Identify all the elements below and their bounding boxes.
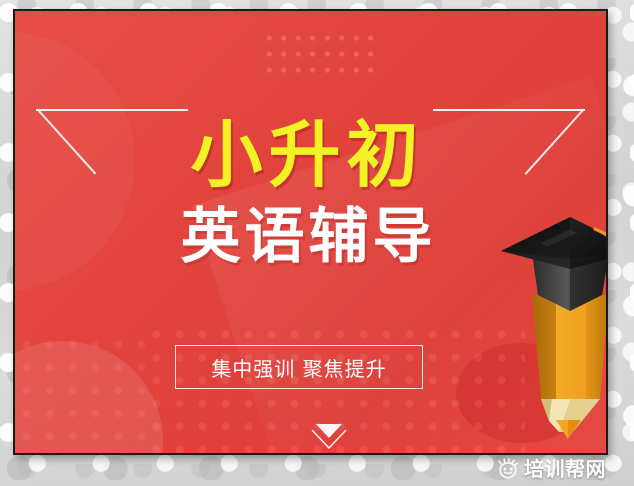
- poster-frame: 小升初 英语辅导 集中强训 聚焦提升: [13, 9, 608, 455]
- slogan-text: 集中强训 聚焦提升: [211, 353, 386, 382]
- chevron-down-icon: [303, 415, 355, 451]
- watermark-text: 培训帮网: [524, 459, 606, 479]
- dot-grid-top: [262, 30, 378, 76]
- slogan-box: 集中强训 聚焦提升: [175, 345, 423, 389]
- headline-block: 小升初 英语辅导: [15, 119, 606, 267]
- sun-face-icon: [497, 458, 519, 480]
- dot-grid-bottom-left: [15, 333, 155, 453]
- watermark: 培训帮网: [497, 458, 606, 480]
- bracket-line-right: [433, 109, 585, 111]
- poster-title-sub: 英语辅导: [15, 207, 606, 267]
- poster-canvas: 小升初 英语辅导 集中强训 聚焦提升: [15, 11, 606, 453]
- screenshot-stage: 小升初 英语辅导 集中强训 聚焦提升: [0, 0, 634, 486]
- pencil-body: [532, 295, 606, 399]
- bracket-line-left: [36, 109, 188, 111]
- poster-title-main: 小升初: [15, 119, 606, 191]
